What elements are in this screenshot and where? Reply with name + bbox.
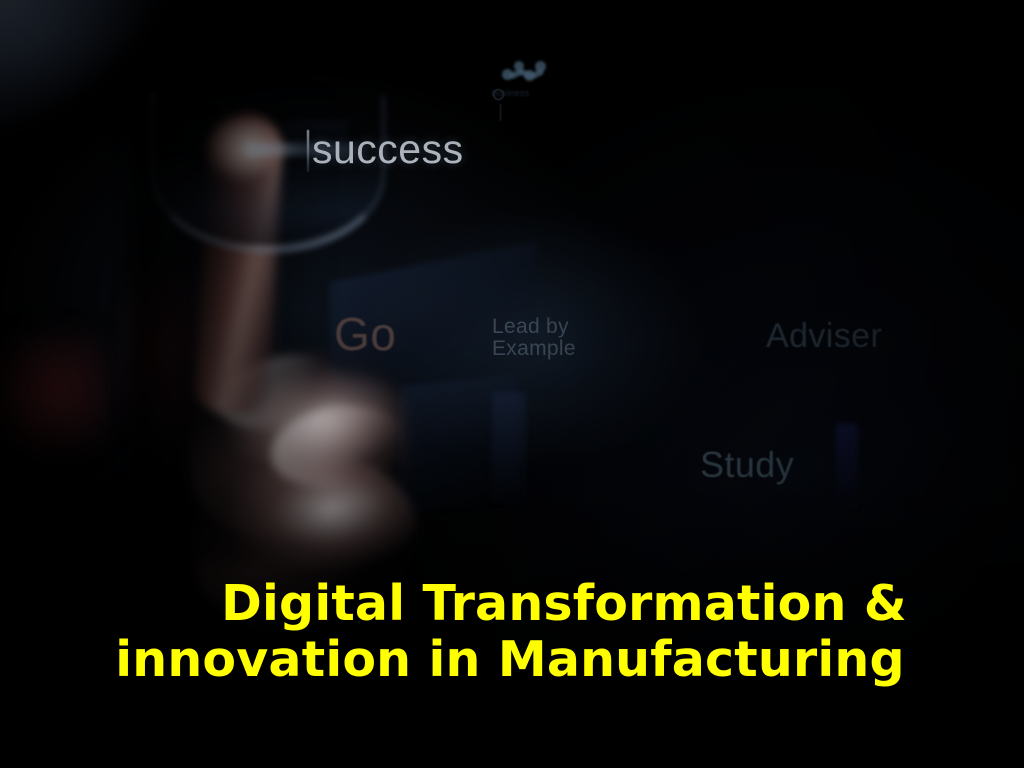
presentation-slide: success Go Lead by Example Adviser Study… (0, 0, 1024, 768)
hand-photo (150, 95, 450, 565)
virtual-panel-narrow (492, 392, 526, 504)
watermark-logo: business (492, 60, 558, 122)
molecule-network-icon (502, 60, 550, 84)
background-smudge-bottom-right (884, 700, 1024, 768)
slide-title-line-1: Digital Transformation & (126, 576, 1002, 632)
logo-wordmark-line1: business (492, 88, 558, 99)
logo-stem-rule (500, 104, 501, 121)
success-caret (307, 130, 309, 172)
slide-title-line-2: innovation in Manufacturing (18, 632, 1002, 688)
virtual-panel-right (836, 424, 858, 510)
slide-title: Digital Transformation & innovation in M… (0, 576, 1024, 688)
hand-shadow-veil (130, 95, 330, 565)
background-smudge-left (0, 330, 110, 460)
